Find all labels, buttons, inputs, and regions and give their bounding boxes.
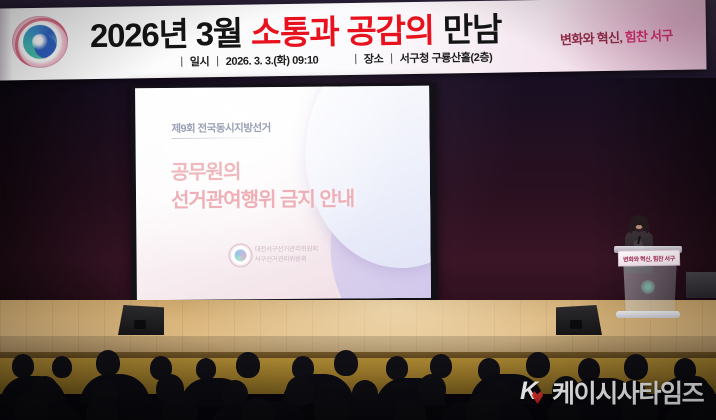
stage-monitor-speaker-right [556,305,602,335]
ksisatimes-logo-icon: K [520,379,546,405]
banner-title-date: 2026년 3월 [89,7,242,57]
projection-screen-frame: 제9회 전국동시지방선거 공무원의 선거관여행위 금지 안내 대전서구선거관리위… [130,83,438,306]
banner-slogan-text: 변화와 혁신, [560,30,623,48]
podium-seal-icon [641,280,655,294]
projection-screen: 제9회 전국동시지방선거 공무원의 선거관여행위 금지 안내 대전서구선거관리위… [135,86,431,301]
subtitle-place-label: 장소 [364,50,384,66]
banner-slogan-highlight: 힘찬 서구 [624,28,673,45]
banner-title-tail: 만남 [442,3,501,52]
side-equipment-table [686,272,716,298]
subtitle-place-value: 서구청 구룡산홀(2층) [400,49,493,66]
audience-head [386,356,408,380]
banner-edge-shadow [0,8,13,80]
subtitle-divider-3: | [354,53,357,65]
podium-slogan-sign: 변화와 혁신, 힘찬 서구 [618,249,680,266]
slide-headline-line2: 선거관여행위 금지 안내 [171,182,354,213]
slide-headline-line1: 공무원의 [171,155,241,185]
subtitle-divider-2: | [216,55,219,67]
acrylic-podium: 변화와 혁신, 힘찬 서구 [614,246,682,320]
subtitle-divider-1: | [180,56,183,68]
subtitle-divider-4: | [390,52,393,64]
press-watermark: K 케이시사타임즈 [520,375,710,409]
audience-head [96,350,120,376]
slide-kicker-text: 제9회 전국동시지방선거 [171,120,270,136]
election-commission-logo-icon [228,243,252,267]
audience-head [196,358,216,380]
audience-head [236,352,260,378]
audience-head [334,350,358,376]
audience-head [418,374,446,404]
banner-title-highlight: 소통과 공감의 [251,4,435,55]
stage-monitor-speaker-left [118,305,164,335]
photo-canvas: 2026년 3월 소통과 공감의 만남 | 일시 | 2026. 3. 3.(화… [0,0,716,420]
audience-head [286,376,314,406]
audience-head [14,392,48,420]
audience-head [12,354,34,378]
seogu-district-emblem-icon [12,15,69,68]
event-banner: 2026년 3월 소통과 공감의 만남 | 일시 | 2026. 3. 3.(화… [0,0,707,81]
banner-title: 2026년 3월 소통과 공감의 만남 [90,6,561,53]
slide-footer-org: 대전서구선거관리위원회 서구선거관리위원회 [254,244,384,265]
watermark-brand-text: 케이시사타임즈 [552,374,703,410]
audience-head [52,356,72,378]
subtitle-date-value: 2026. 3. 3.(화) 09:10 [226,52,319,69]
slide-footer-org-sub: 서구선거관리위원회 [255,254,385,265]
subtitle-date-label: 일시 [190,53,210,69]
